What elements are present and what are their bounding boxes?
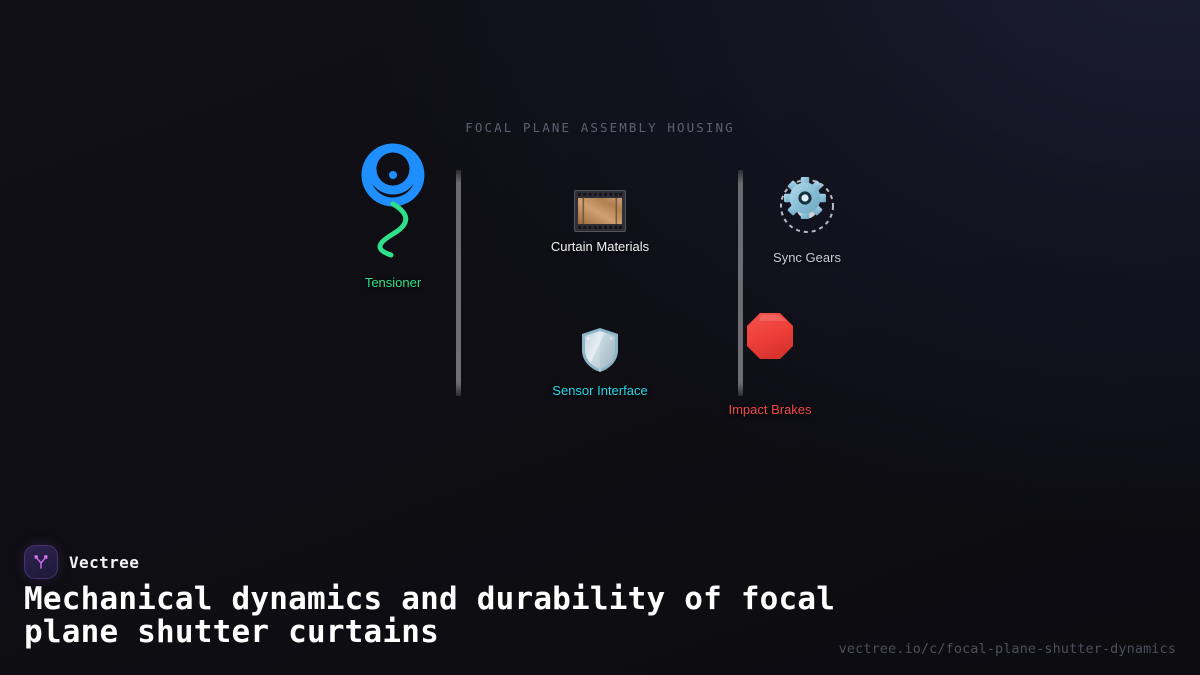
assembly-diagram: FOCAL PLANE ASSEMBLY HOUSING Tensioner: [0, 0, 1200, 520]
brand-row: Vectree: [24, 545, 139, 579]
vectree-logo-icon: [24, 545, 58, 579]
page-title: Mechanical dynamics and durability of fo…: [24, 583, 854, 649]
spiral-spring-icon: [358, 140, 428, 260]
film-strip-icon: [574, 190, 626, 232]
node-impact-brakes-label: Impact Brakes: [728, 402, 811, 418]
slide-canvas: FOCAL PLANE ASSEMBLY HOUSING Tensioner: [0, 0, 1200, 675]
shield-icon: [579, 326, 621, 374]
node-curtain-materials[interactable]: Curtain Materials: [500, 190, 700, 255]
node-sync-gears[interactable]: Sync Gears: [707, 168, 907, 266]
source-url: vectree.io/c/focal-plane-shutter-dynamic…: [839, 641, 1176, 657]
diagram-section-title: FOCAL PLANE ASSEMBLY HOUSING: [0, 120, 1200, 135]
node-impact-brakes[interactable]: Impact Brakes: [670, 312, 870, 418]
footer-branding: Vectree Mechanical dynamics and durabili…: [0, 527, 1200, 675]
gear-orbit-icon: [771, 168, 843, 240]
brand-name: Vectree: [69, 553, 139, 572]
node-tensioner-label: Tensioner: [365, 275, 421, 291]
node-sensor-interface-label: Sensor Interface: [552, 383, 647, 399]
node-sync-gears-label: Sync Gears: [773, 250, 841, 266]
node-curtain-materials-label: Curtain Materials: [551, 239, 649, 255]
octagon-stop-icon: [746, 312, 794, 360]
node-tensioner[interactable]: Tensioner: [293, 140, 493, 291]
